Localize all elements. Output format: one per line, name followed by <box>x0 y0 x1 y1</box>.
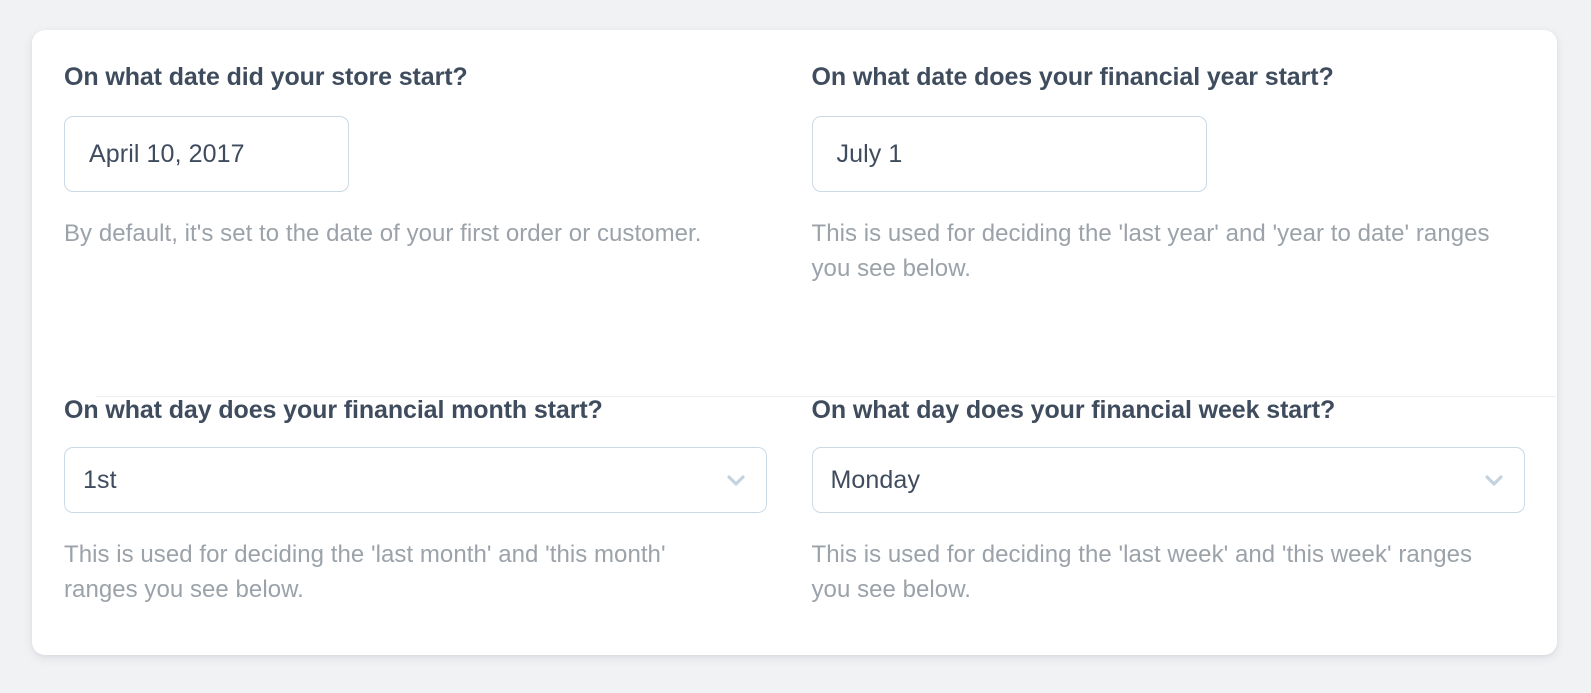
financial-year-start-value: July 1 <box>837 140 903 169</box>
page-root: On what date did your store start? April… <box>0 0 1591 693</box>
financial-week-start-helper: This is used for deciding the 'last week… <box>812 538 1512 608</box>
field-financial-year-start: On what date does your financial year st… <box>795 62 1526 366</box>
financial-month-start-label: On what day does your financial month st… <box>64 395 767 425</box>
store-start-date-value: April 10, 2017 <box>89 140 245 169</box>
store-start-date-input[interactable]: April 10, 2017 <box>64 116 349 192</box>
day-settings-row: On what day does your financial month st… <box>64 366 1525 608</box>
financial-year-start-input[interactable]: July 1 <box>812 116 1207 192</box>
settings-card: On what date did your store start? April… <box>32 30 1557 655</box>
financial-month-start-value: 1st <box>83 466 117 495</box>
financial-week-start-select[interactable]: Monday <box>812 447 1526 513</box>
field-store-start-date: On what date did your store start? April… <box>64 62 795 366</box>
financial-month-start-select[interactable]: 1st <box>64 447 767 513</box>
date-settings-row: On what date did your store start? April… <box>64 30 1525 366</box>
financial-week-start-label: On what day does your financial week sta… <box>812 395 1526 425</box>
financial-year-start-helper: This is used for deciding the 'last year… <box>812 217 1512 287</box>
field-financial-week-start: On what day does your financial week sta… <box>795 395 1526 608</box>
section-divider <box>96 396 1556 397</box>
financial-month-start-helper: This is used for deciding the 'last mont… <box>64 538 704 608</box>
chevron-down-icon <box>724 468 748 492</box>
chevron-down-icon <box>1482 468 1506 492</box>
financial-year-start-label: On what date does your financial year st… <box>812 62 1526 92</box>
store-start-date-label: On what date did your store start? <box>64 62 767 92</box>
store-start-date-helper: By default, it's set to the date of your… <box>64 217 704 252</box>
card-inner: On what date did your store start? April… <box>32 30 1557 655</box>
financial-week-start-value: Monday <box>831 466 921 495</box>
field-financial-month-start: On what day does your financial month st… <box>64 395 795 608</box>
